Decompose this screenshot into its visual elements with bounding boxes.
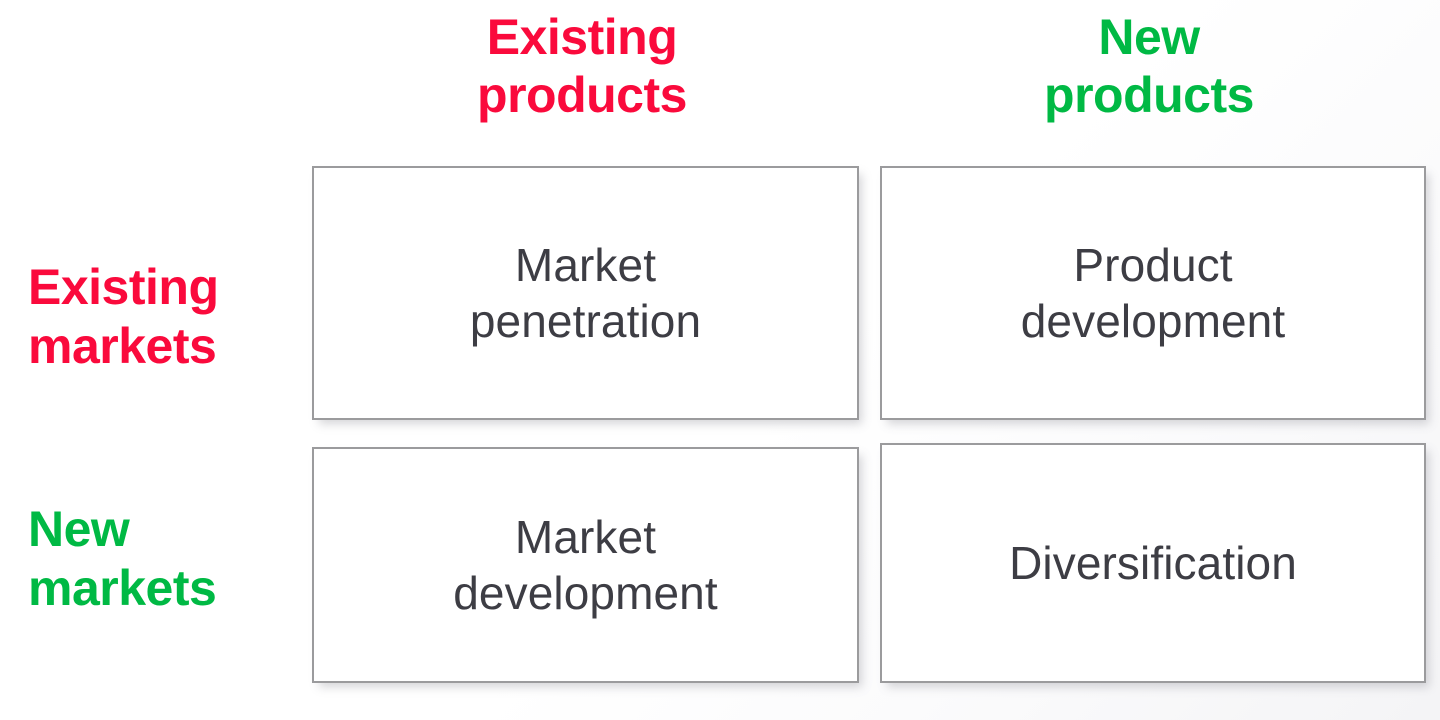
column-header-existing-products: Existing products — [398, 8, 766, 124]
quadrant-market-penetration: Market penetration — [312, 166, 859, 420]
quadrant-market-development: Market development — [312, 447, 859, 683]
row-label-existing-markets: Existing markets — [28, 258, 308, 376]
quadrant-label: Product development — [1021, 237, 1286, 349]
row-label-new-markets: New markets — [28, 500, 308, 618]
ansoff-matrix-diagram: Existing products New products Existing … — [0, 0, 1440, 720]
quadrant-product-development: Product development — [880, 166, 1426, 420]
quadrant-diversification: Diversification — [880, 443, 1426, 683]
quadrant-label: Market development — [453, 509, 718, 621]
column-header-new-products: New products — [965, 8, 1333, 124]
quadrant-label: Market penetration — [470, 237, 701, 349]
quadrant-label: Diversification — [1009, 535, 1297, 591]
